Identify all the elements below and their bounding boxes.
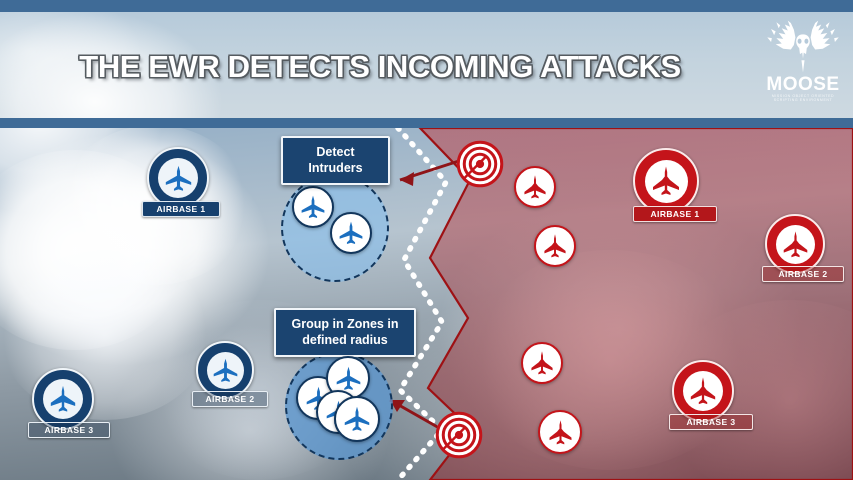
airbase-inner: [776, 225, 815, 264]
blue-fighter-icon: [212, 357, 239, 384]
airbase-inner: [683, 371, 723, 411]
red-airbase-1[interactable]: AIRBASE 1: [633, 148, 703, 234]
airbase-label: AIRBASE 3: [669, 414, 753, 430]
blue-airbase-3[interactable]: AIRBASE 3: [32, 368, 94, 448]
airbase-label: AIRBASE 3: [28, 422, 110, 438]
airbase-disc: [633, 148, 699, 214]
airbase-disc: [32, 368, 94, 430]
blue-fighter-icon: [48, 384, 78, 414]
airbase-inner: [43, 379, 83, 419]
blue-jet-unit[interactable]: [292, 186, 334, 228]
airbase-inner: [207, 352, 244, 389]
red-aircraft-unit[interactable]: [521, 342, 563, 384]
blue-fighter-icon: [335, 365, 362, 392]
red-aircraft-unit[interactable]: [534, 225, 576, 267]
top-accent-bar: [0, 0, 853, 12]
moose-logo[interactable]: MOOSE MISSION OBJECT ORIENTED SCRIPTING …: [765, 16, 841, 106]
slide: AIRBASE 1 AIRBASE 2 AI: [0, 0, 853, 480]
blue-fighter-icon: [164, 164, 193, 193]
page-title: THE EWR DETECTS INCOMING ATTACKS: [0, 49, 760, 85]
arrow-detect: [400, 160, 462, 186]
airbase-label: AIRBASE 2: [192, 391, 268, 407]
airbase-inner: [645, 160, 688, 203]
airbase-inner: [158, 158, 198, 198]
moose-logo-subtext: MISSION OBJECT ORIENTED SCRIPTING ENVIRO…: [765, 94, 841, 102]
blue-jet-unit[interactable]: [330, 212, 372, 254]
header-divider-bar: [0, 118, 853, 128]
red-fighter-icon: [529, 350, 555, 376]
red-fighter-icon: [688, 376, 718, 406]
red-airbase-3[interactable]: AIRBASE 3: [672, 360, 738, 442]
radar-target-icon: [456, 140, 504, 188]
callout-line-1: Group in Zones in: [286, 317, 404, 333]
ewr-radar-1[interactable]: [456, 140, 504, 188]
ewr-radar-2[interactable]: [435, 411, 483, 459]
blue-airbase-2[interactable]: AIRBASE 2: [196, 341, 254, 417]
callout-line-1: Detect: [293, 145, 378, 161]
airbase-label: AIRBASE 1: [633, 206, 717, 222]
blue-fighter-icon: [343, 405, 371, 433]
moose-logo-text: MOOSE: [765, 74, 841, 96]
radar-target-icon: [435, 411, 483, 459]
moose-antlers-logo-icon: [765, 16, 841, 74]
red-fighter-icon: [781, 230, 810, 259]
callout-detect-intruders: Detect Intruders: [281, 136, 390, 185]
red-fighter-icon: [522, 174, 548, 200]
red-aircraft-unit[interactable]: [538, 410, 582, 454]
blue-jet-unit[interactable]: [334, 396, 380, 442]
airbase-disc: [147, 147, 209, 209]
airbase-label: AIRBASE 2: [762, 266, 844, 282]
airbase-disc: [765, 214, 825, 274]
red-aircraft-unit[interactable]: [514, 166, 556, 208]
map-area: AIRBASE 1 AIRBASE 2 AI: [0, 128, 853, 480]
red-fighter-icon: [547, 419, 574, 446]
callout-line-2: Intruders: [293, 161, 378, 177]
callout-group-in-zones: Group in Zones in defined radius: [274, 308, 416, 357]
airbase-disc: [672, 360, 734, 422]
red-fighter-icon: [542, 233, 568, 259]
red-airbase-2[interactable]: AIRBASE 2: [765, 214, 827, 294]
callout-line-2: defined radius: [286, 333, 404, 349]
blue-airbase-1[interactable]: AIRBASE 1: [147, 147, 205, 223]
blue-fighter-icon: [300, 194, 326, 220]
blue-fighter-icon: [338, 220, 364, 246]
airbase-label: AIRBASE 1: [142, 201, 220, 217]
red-fighter-icon: [650, 165, 682, 197]
